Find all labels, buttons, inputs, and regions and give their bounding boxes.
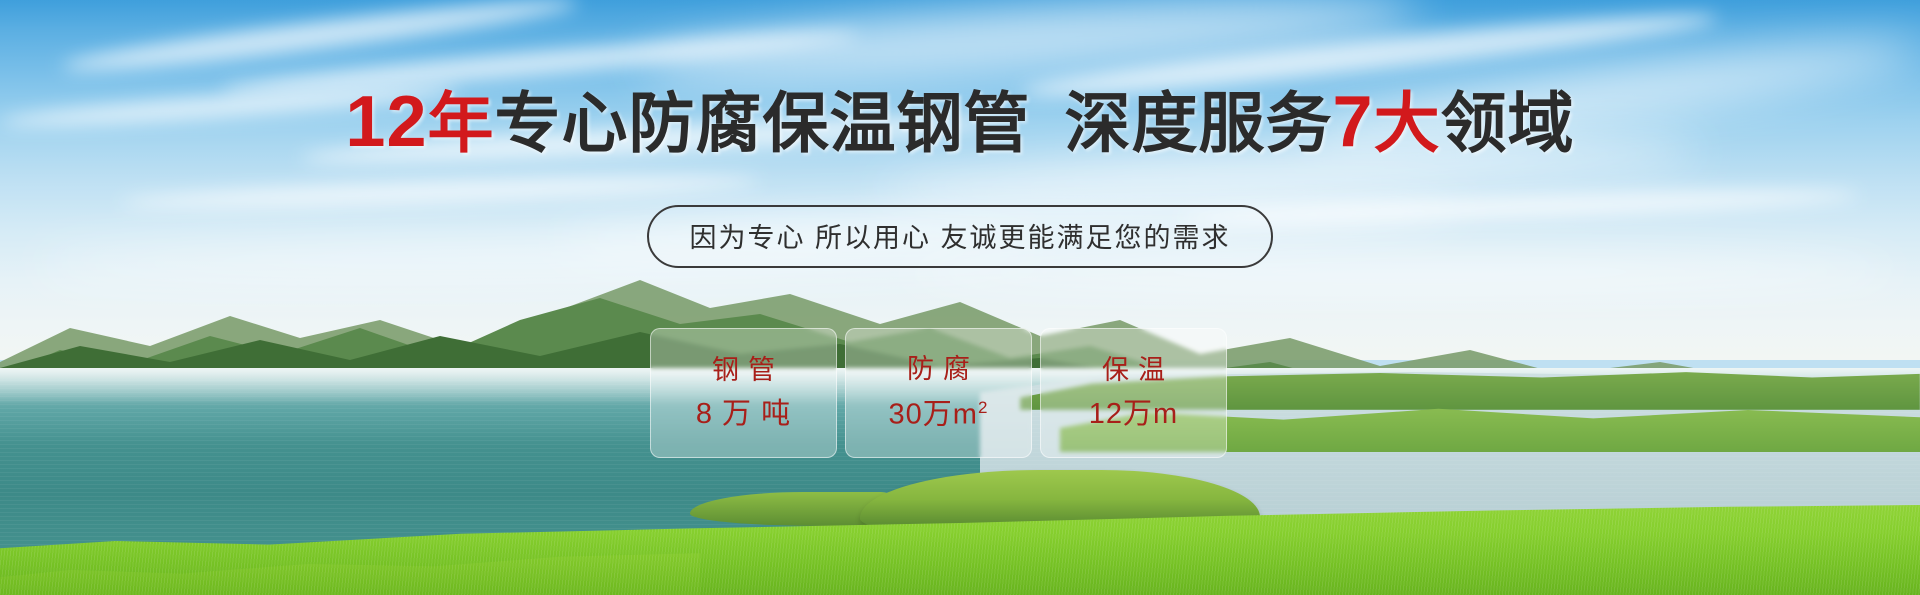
headline-service-number: 7 (1333, 82, 1374, 162)
headline: 12年专心防腐保温钢管深度服务7大领域 (0, 86, 1920, 158)
stat-card-insulation: 保温 12万m (1040, 328, 1227, 458)
stat-card-title: 保温 (1093, 357, 1174, 384)
headline-service-text: 深度服务 (1065, 86, 1333, 160)
promo-banner: 12年专心防腐保温钢管深度服务7大领域 因为专心 所以用心 友诚更能满足您的需求… (0, 0, 1920, 595)
stat-card-title: 防腐 (898, 356, 979, 383)
stat-card-anticorrosion: 防腐 30万m2 (845, 328, 1032, 458)
subtitle-pill: 因为专心 所以用心 友诚更能满足您的需求 (647, 205, 1272, 268)
stat-card-value-text: 30万m (889, 399, 978, 431)
stat-card-title: 钢管 (703, 357, 784, 384)
stat-card-value: 12万m (1089, 400, 1178, 429)
headline-years-number: 12 (345, 82, 427, 162)
stat-card-value-text: 12万m (1089, 398, 1178, 430)
stat-card-value: 8 万 吨 (696, 400, 791, 429)
stat-card-value: 30万m2 (889, 399, 989, 430)
stat-card-value-text: 8 万 吨 (696, 398, 791, 430)
headline-service-unit: 大 (1374, 86, 1441, 160)
subtitle-wrapper: 因为专心 所以用心 友诚更能满足您的需求 (0, 205, 1920, 268)
banner-content: 12年专心防腐保温钢管深度服务7大领域 因为专心 所以用心 友诚更能满足您的需求… (0, 0, 1920, 595)
stat-card-value-superscript: 2 (978, 398, 988, 417)
headline-years-unit: 年 (428, 86, 495, 160)
stat-card-steel-pipe: 钢管 8 万 吨 (650, 328, 837, 458)
stat-card-list: 钢管 8 万 吨 防腐 30万m2 保温 12万m (650, 328, 1227, 458)
headline-main-text: 专心防腐保温钢管 (495, 86, 1031, 160)
headline-service-tail: 领域 (1441, 86, 1575, 160)
